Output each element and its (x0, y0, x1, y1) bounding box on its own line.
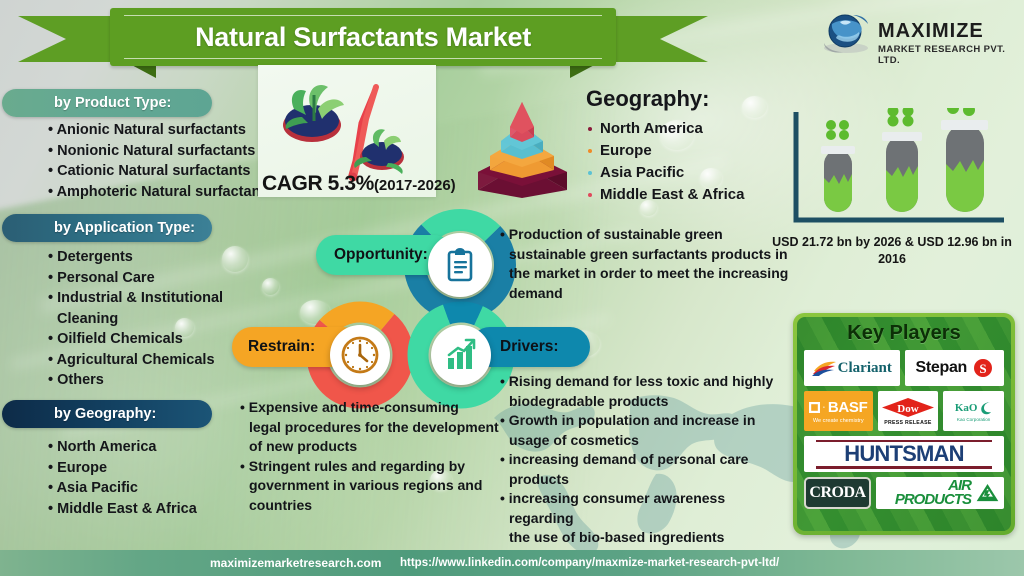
infographic-canvas: Natural Surfactants Market MAXIMIZE MARK… (0, 0, 1024, 576)
list-item: increasing consumer awareness regarding (500, 489, 785, 528)
bullet-dot (588, 193, 592, 197)
logo-croda-text: CRODA (809, 484, 865, 502)
logo-croda[interactable]: CRODA (804, 477, 871, 509)
key-players-row: CRODA AIR PRODUCTS (804, 477, 1004, 509)
opportunity-text: Production of sustainable green sustaina… (500, 225, 792, 303)
list-item-continuation: government in various regions and (240, 476, 515, 496)
list-item: Anionic Natural surfactants (48, 120, 278, 141)
list-item: Amphoteric Natural surfactants (48, 182, 278, 203)
cagr-label: CAGR 5.3%(2017-2026) (262, 172, 456, 196)
list-item: Stringent rules and regarding by (240, 457, 515, 477)
list-item: Expensive and time-consuming (240, 398, 515, 418)
key-players-row: ● BASF We create chemistry Dow PRESS REL… (804, 391, 1004, 431)
list-item: Detergents (48, 247, 278, 268)
bullet-dot (588, 127, 592, 131)
drivers-text: Rising demand for less toxic and highly … (500, 372, 785, 548)
logo-air-products[interactable]: AIR PRODUCTS (876, 477, 1004, 509)
svg-text:Dow: Dow (897, 403, 918, 415)
logo-stepan[interactable]: Stepan S (905, 350, 1004, 386)
list-item-continuation: products (500, 470, 785, 490)
section-header-label: by Application Type: (54, 220, 195, 236)
list-item: North America (588, 118, 744, 140)
restrain-text: Expensive and time-consuming legal proce… (240, 398, 515, 515)
kao-moon-icon (979, 401, 992, 416)
section-header-label: by Product Type: (54, 95, 171, 111)
key-players-title: Key Players (804, 320, 1004, 350)
company-logo: MAXIMIZE MARKET RESEARCH PVT. LTD. (820, 10, 1006, 68)
test-tube-2016 (821, 120, 855, 212)
logo-basf[interactable]: ● BASF We create chemistry (804, 391, 873, 431)
logo-kao-text: KaO (955, 402, 978, 414)
list-item-continuation: Cleaning (48, 309, 278, 330)
list-item-continuation: sustainable green surfactants products i… (500, 245, 792, 265)
water-droplet (742, 96, 767, 118)
cagr-period: (2017-2026) (374, 177, 456, 194)
logo-dow-tagline: PRESS RELEASE (884, 420, 931, 426)
footer-website[interactable]: maximizemarketresearch.com (210, 556, 381, 570)
ribbon-banner: Natural Surfactants Market (110, 8, 616, 66)
globe-icon (820, 12, 876, 60)
section-header-label: by Geography: (54, 406, 156, 422)
list-item: Production of sustainable green (500, 225, 792, 245)
svg-text:S: S (979, 361, 986, 376)
bullet-dot (588, 171, 592, 175)
list-item-label: North America (600, 120, 703, 137)
stepan-mark-icon: S (973, 358, 993, 378)
list-item-label: Asia Pacific (600, 164, 684, 181)
section-header-product-type[interactable]: by Product Type: (2, 89, 212, 117)
air-products-mark-icon (974, 481, 1001, 505)
list-item-continuation: countries (240, 496, 515, 516)
list-item-continuation: demand (500, 284, 792, 304)
key-players-panel: Key Players Clariant Stepan S (793, 313, 1015, 535)
list-item: Europe (588, 140, 744, 162)
logo-basf-tagline: We create chemistry (813, 418, 864, 424)
list-item: Asia Pacific (588, 162, 744, 184)
market-size-caption: USD 21.72 bn by 2026 & USD 12.96 bn in 2… (768, 234, 1016, 268)
bar-chart-growth-icon (442, 336, 480, 374)
list-item: Industrial & Institutional (48, 288, 278, 309)
basf-mark-icon (809, 402, 820, 413)
market-size-chart (782, 108, 1012, 234)
clariant-mark-icon (812, 358, 838, 378)
key-players-row: Clariant Stepan S (804, 350, 1004, 386)
logo-huntsman-text: HUNTSMAN (844, 442, 963, 466)
title-ribbon: Natural Surfactants Market (18, 8, 708, 70)
list-item-continuation: legal procedures for the development (240, 418, 515, 438)
dow-mark-icon: Dow (881, 397, 935, 418)
test-tube-2026 (941, 108, 988, 212)
logo-stepan-text: Stepan (915, 359, 967, 377)
section-header-geography[interactable]: by Geography: (2, 400, 212, 428)
list-item: increasing demand of personal care (500, 450, 785, 470)
list-application-type: Detergents Personal Care Industrial & In… (48, 247, 278, 391)
clock-icon (340, 335, 380, 375)
key-players-inner: Key Players Clariant Stepan S (797, 317, 1011, 531)
list-item: Growth in population and increase in (500, 411, 785, 431)
section-header-application-type[interactable]: by Application Type: (2, 214, 212, 242)
logo-clariant[interactable]: Clariant (804, 350, 900, 386)
drivers-icon-circle[interactable] (431, 325, 491, 385)
restrain-label: Restrain: (248, 338, 315, 356)
logo-air-products-text: AIR PRODUCTS (879, 479, 971, 507)
logo-kao[interactable]: KaO Kao Corporation (943, 391, 1004, 431)
list-item: Middle East & Africa (588, 184, 744, 206)
logo-huntsman[interactable]: HUNTSMAN (804, 436, 1004, 472)
opportunity-icon-circle[interactable] (428, 233, 492, 297)
geography-panel-title: Geography: (586, 86, 709, 112)
list-item: Rising demand for less toxic and highly (500, 372, 785, 392)
list-item-label: Middle East & Africa (600, 186, 744, 203)
list-item-continuation: biodegradable products (500, 392, 785, 412)
footer-bar: maximizemarketresearch.com https://www.l… (0, 550, 1024, 576)
clipboard-icon (442, 247, 478, 283)
logo-dow[interactable]: Dow PRESS RELEASE (878, 391, 939, 431)
list-product-type: Anionic Natural surfactants Nonionic Nat… (48, 120, 278, 202)
restrain-icon-circle[interactable] (330, 325, 390, 385)
drivers-label: Drivers: (500, 338, 559, 356)
list-item: Cationic Natural surfactants (48, 161, 278, 182)
cagr-value: CAGR 5.3% (262, 172, 374, 195)
page-title: Natural Surfactants Market (195, 22, 531, 53)
bullet-dot (588, 149, 592, 153)
list-item-label: Europe (600, 142, 652, 159)
geography-panel-list: North America Europe Asia Pacific Middle… (588, 118, 744, 206)
logo-basf-text: BASF (828, 399, 868, 416)
list-item-continuation: of new products (240, 437, 515, 457)
list-item: Nonionic Natural surfactants (48, 141, 278, 162)
logo-company-name: MAXIMIZE (878, 20, 984, 43)
list-item-continuation: the use of bio-based ingredients (500, 528, 785, 548)
list-item: Personal Care (48, 268, 278, 289)
list-item-continuation: the market in order to meet the increasi… (500, 264, 792, 284)
pyramid-icon (470, 90, 575, 200)
opportunity-label: Opportunity: (334, 246, 428, 264)
list-item-continuation: usage of cosmetics (500, 431, 785, 451)
footer-linkedin-url[interactable]: https://www.linkedin.com/company/maxmize… (400, 557, 779, 569)
logo-company-tagline: MARKET RESEARCH PVT. LTD. (878, 44, 1006, 66)
list-item: Others (48, 370, 278, 391)
logo-clariant-text: Clariant (838, 360, 892, 377)
test-tube-mid (882, 108, 922, 212)
key-players-row: HUNTSMAN (804, 436, 1004, 472)
logo-kao-tagline: Kao Corporation (957, 417, 990, 422)
